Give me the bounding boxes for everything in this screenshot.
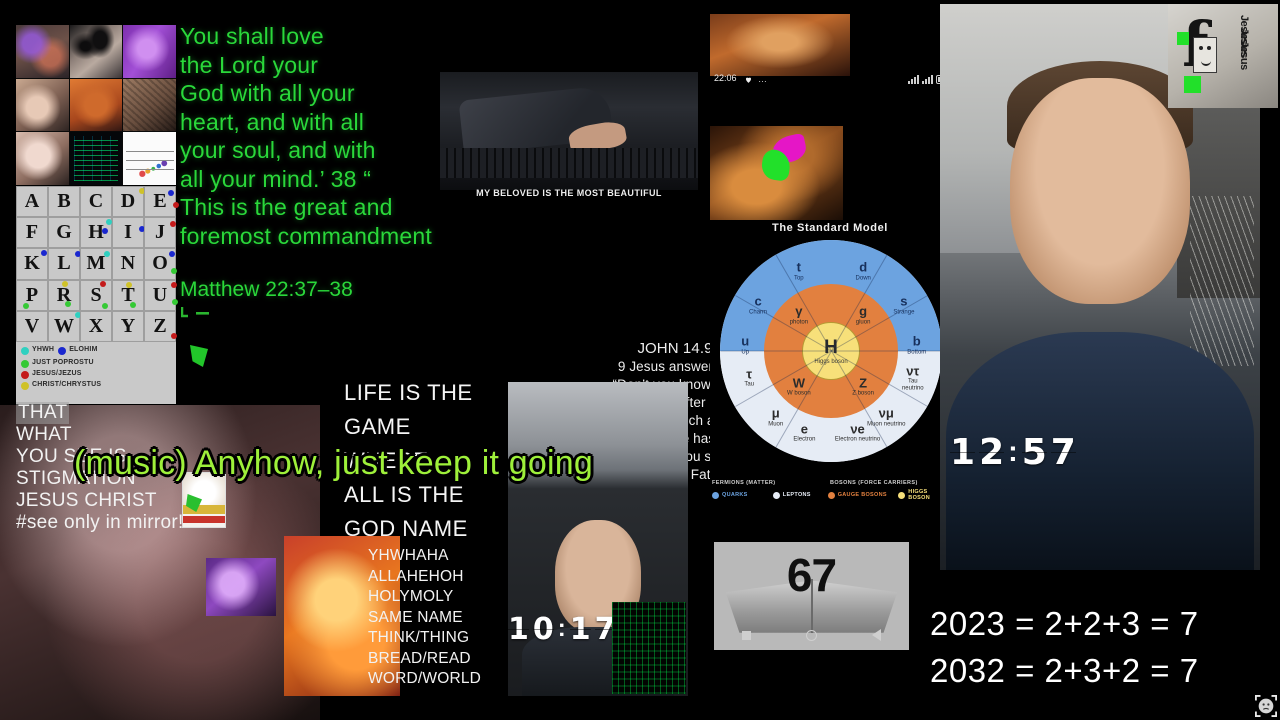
particle-symbol: g <box>856 305 871 319</box>
video-collage-stage: ABCDEFGHIJKLMNOPRSTUVWXYZ YHWHELOHIMJUST… <box>0 0 1280 720</box>
particle-name: Z boson <box>852 391 874 397</box>
sm-legend-label: GAUGE BOSONS <box>838 492 887 498</box>
particle-symbol: b <box>907 335 926 349</box>
verse-text-line: the Lord your <box>180 51 450 80</box>
letter-label: K <box>24 252 40 275</box>
letter-label: X <box>89 315 103 338</box>
legend-label: YHWH <box>32 346 54 353</box>
letter-marker-dot <box>106 219 112 225</box>
mosaic-tile-6 <box>123 79 176 132</box>
particle-symbol: νe <box>835 422 880 436</box>
legend-item: ELOHIM <box>58 346 97 355</box>
particle-symbol: s <box>893 295 914 309</box>
particle-name: Electron <box>793 437 815 443</box>
particle-name: Down <box>856 275 871 281</box>
sm-legend-item: LEPTONS <box>773 489 828 501</box>
letter-marker-dot <box>171 333 177 339</box>
watermark-face-card <box>1193 37 1217 73</box>
higgs-name: Higgs boson <box>814 359 847 365</box>
letter-marker-dot <box>104 251 110 257</box>
letter-cell-G[interactable]: G <box>48 217 80 248</box>
particle-name: Top <box>794 275 804 281</box>
letter-cell-E[interactable]: E <box>144 186 176 217</box>
matthew-verse-text: You shall lovethe Lord yourGod with all … <box>180 22 450 250</box>
particle-symbol: e <box>793 422 815 436</box>
letter-cell-H[interactable]: H <box>80 217 112 248</box>
sm-legend-dot <box>898 492 905 499</box>
yhwh-line: YHWHAHA <box>368 546 518 567</box>
stigmata-line: THAT <box>16 402 266 424</box>
standard-model-title: The Standard Model <box>710 222 950 234</box>
back-button[interactable] <box>872 629 881 641</box>
particle-symbol: γ <box>790 305 808 319</box>
letter-label: Y <box>121 315 135 338</box>
letter-label: N <box>121 252 135 275</box>
letter-marker-dot <box>41 250 47 256</box>
legend-color-dot <box>21 382 29 390</box>
lepton-tau: τTau <box>744 367 754 388</box>
letter-label: S <box>90 284 101 307</box>
letter-marker-dot <box>172 299 178 305</box>
legend-color-dot <box>21 371 29 379</box>
letter-label: L <box>57 252 70 275</box>
sm-legend-dot <box>828 492 835 499</box>
lepton-electron-neutrino: νeElectron neutrino <box>835 422 880 443</box>
letter-cell-B[interactable]: B <box>48 186 80 217</box>
particle-symbol: τ <box>744 367 754 381</box>
boson-z-boson: ZZ boson <box>852 376 874 397</box>
legend-row: CHRIST/CHRYSTUS <box>21 381 172 390</box>
quark-strange: sStrange <box>893 295 914 316</box>
letter-label: H <box>88 221 104 244</box>
legend-item: JUST POPROSTU <box>21 359 94 368</box>
mosaic-tile-4 <box>16 79 69 132</box>
mosaic-tile-7 <box>16 132 69 185</box>
android-navbar <box>714 626 909 644</box>
particle-name: Up <box>741 349 749 355</box>
boson-gluon: ggluon <box>856 305 871 326</box>
verse-text-line: foremost commandment <box>180 222 450 251</box>
wheel-spoke <box>721 351 832 352</box>
legend-item: JESUS/JEZUS <box>21 370 82 379</box>
letter-label: G <box>56 221 72 244</box>
letter-label: C <box>89 190 103 213</box>
sm-legend-dot <box>712 492 719 499</box>
particle-symbol: u <box>741 335 749 349</box>
letter-marker-dot <box>102 228 108 234</box>
legend-label: JESUS/JEZUS <box>32 370 82 377</box>
phone-video-clip <box>710 14 850 76</box>
mosaic-tile-8 <box>70 132 123 185</box>
quark-top: tTop <box>794 261 804 282</box>
numerology-row-line: 2032 = 2+3+2 = 7 <box>930 647 1270 694</box>
numerology-row-line: 2023 = 2+2+3 = 7 <box>930 600 1270 647</box>
letter-label: W <box>54 315 74 338</box>
mosaic-tile-2 <box>70 25 123 78</box>
letter-cell-S[interactable]: S <box>80 280 112 311</box>
watermark-word: Jesus <box>1238 41 1250 97</box>
yhwh-line: SAME NAME <box>368 608 518 629</box>
letter-marker-dot <box>169 251 175 257</box>
letter-marker-dot <box>126 282 132 288</box>
game-text-line: ALL IS THE <box>344 478 524 512</box>
legend-label: ELOHIM <box>69 346 97 353</box>
selfie-clock-colon: : <box>558 615 566 643</box>
standard-model-legend: FERMIONS (MATTER) BOSONS (FORCE CARRIERS… <box>712 480 950 501</box>
letter-cell-V[interactable]: V <box>16 311 48 342</box>
letter-cell-Y[interactable]: Y <box>112 311 144 342</box>
photo-mosaic <box>16 25 176 185</box>
letter-cell-X[interactable]: X <box>80 311 112 342</box>
numerology-math: 2023 = 2+2+3 = 72032 = 2+3+2 = 7 <box>930 600 1270 694</box>
lepton-electron: eElectron <box>793 422 815 443</box>
letter-label: U <box>153 284 167 307</box>
mosaic-tile-9 <box>123 132 176 185</box>
particle-symbol: t <box>794 261 804 275</box>
letter-cell-N[interactable]: N <box>112 248 144 279</box>
letter-label: J <box>155 221 165 244</box>
terminal-cursor-icon <box>181 306 221 318</box>
sm-legend-label: QUARKS <box>722 492 748 498</box>
lepton-muon: μMuon <box>768 406 783 427</box>
selfie-clock-digit: 1 <box>570 612 591 647</box>
stigmata-line: #see only in mirror! <box>16 512 266 534</box>
mosaic-tile-1 <box>16 25 69 78</box>
yhwh-line: WORD/WORLD <box>368 669 518 690</box>
channel-watermark-logo: f JesusJesusJesus <box>1168 4 1278 108</box>
particle-symbol: νμ <box>867 406 905 420</box>
flip-clock-selfie: 10:17 <box>508 612 588 646</box>
letter-marker-dot <box>171 268 177 274</box>
game-text-line: GAME <box>344 410 524 444</box>
letter-cell-W[interactable]: W <box>48 311 80 342</box>
letter-marker-dot <box>170 221 176 227</box>
particle-name: W boson <box>787 391 811 397</box>
particle-name: Bottom <box>907 349 926 355</box>
verse-text-line: God with all your <box>180 79 450 108</box>
letter-marker-dot <box>23 303 29 309</box>
sm-legend-item: QUARKS <box>712 489 773 501</box>
particle-name: gluon <box>856 320 871 326</box>
letter-label: F <box>26 221 38 244</box>
piano-video-clip <box>440 72 698 190</box>
particle-symbol: W <box>787 376 811 390</box>
legend-color-dot <box>58 347 66 355</box>
letter-marker-dot <box>100 281 106 287</box>
piano-clip-caption: MY BELOVED IS THE MOST BEAUTIFUL <box>440 188 698 198</box>
quark-down: dDown <box>856 261 871 282</box>
particle-symbol: d <box>856 261 871 275</box>
letter-marker-dot <box>173 202 179 208</box>
letter-cell-A[interactable]: A <box>16 186 48 217</box>
letter-label: A <box>25 190 39 213</box>
main-subtitle: (music) Anyhow, just keep it going <box>74 444 1214 483</box>
verse-text-line: your soul, and with <box>180 136 450 165</box>
verse-text-line: You shall love <box>180 22 450 51</box>
cellular-icon <box>922 74 933 84</box>
letter-cell-U[interactable]: U <box>144 280 176 311</box>
letter-label: M <box>87 252 106 275</box>
yhwh-line: HOLYMOLY <box>368 587 518 608</box>
legend-color-dot <box>21 360 29 368</box>
heart-icon <box>744 75 753 84</box>
yhwh-line: ALLAHEHOH <box>368 567 518 588</box>
recents-button[interactable] <box>742 631 751 640</box>
particle-symbol: c <box>749 295 767 309</box>
letter-cell-I[interactable]: I <box>112 217 144 248</box>
letter-cell-D[interactable]: D <box>112 186 144 217</box>
particle-name: Charm <box>749 310 767 316</box>
verse-text-line: heart, and with all <box>180 108 450 137</box>
letter-cell-Z[interactable]: Z <box>144 311 176 342</box>
yhwh-line: THINK/THING <box>368 628 518 649</box>
letter-marker-dot <box>168 190 174 196</box>
letter-label: E <box>153 190 166 213</box>
particle-name: Tau neutrino <box>898 379 927 392</box>
letter-marker-dot <box>171 282 177 288</box>
green-blob-icon <box>190 345 208 367</box>
legend-color-dot <box>21 347 29 355</box>
letter-label: V <box>25 315 39 338</box>
legend-label: CHRIST/CHRYSTUS <box>32 381 101 388</box>
letter-cell-J[interactable]: J <box>144 217 176 248</box>
particle-name: Electron neutrino <box>835 437 880 443</box>
letter-cell-L[interactable]: L <box>48 248 80 279</box>
verse-text-line: all your mind.’ 38 “ <box>180 165 450 194</box>
letter-cell-O[interactable]: O <box>144 248 176 279</box>
selfie-clock-digit: 0 <box>533 612 554 647</box>
legend-row: YHWHELOHIMJUST POPROSTU <box>21 346 172 368</box>
lepton-tau-neutrino: ντTau neutrino <box>898 364 927 391</box>
alphabet-grid: ABCDEFGHIJKLMNOPRSTUVWXYZ <box>16 186 176 342</box>
letter-cell-R[interactable]: R <box>48 280 80 311</box>
stigmata-line: WHAT <box>16 424 266 446</box>
letter-label: O <box>152 252 168 275</box>
quark-up: uUp <box>741 335 749 356</box>
boson-photon: γphoton <box>790 305 808 326</box>
wifi-icon <box>908 74 919 84</box>
letter-cell-C[interactable]: C <box>80 186 112 217</box>
legend-row: JESUS/JEZUS <box>21 370 172 379</box>
letter-label: D <box>121 190 135 213</box>
letter-cell-T[interactable]: T <box>112 280 144 311</box>
particle-name: Strange <box>893 310 914 316</box>
bible-number-overlay: 67 <box>714 548 909 602</box>
sm-legend-dot <box>773 492 780 499</box>
legend-label: JUST POPROSTU <box>32 359 94 366</box>
letter-marker-dot <box>130 302 136 308</box>
stigmata-line: JESUS CHRIST <box>16 490 266 512</box>
letter-cell-F[interactable]: F <box>16 217 48 248</box>
alphabet-legend: YHWHELOHIMJUST POPROSTUJESUS/JEZUSCHRIST… <box>16 342 176 404</box>
yhwh-line: BREAD/READ <box>368 649 518 670</box>
mosaic-tile-3 <box>123 25 176 78</box>
selfie-clock-digit: 1 <box>508 612 529 647</box>
home-button[interactable] <box>806 630 817 641</box>
mosaic-tile-5 <box>70 79 123 132</box>
letter-cell-M[interactable]: M <box>80 248 112 279</box>
game-text-line: LIFE IS THE <box>344 376 524 410</box>
particle-symbol: ντ <box>898 364 927 378</box>
legend-item: YHWH <box>21 346 54 355</box>
letter-label: I <box>124 221 132 244</box>
purple-video-thumbnail <box>206 558 276 616</box>
letter-label: B <box>57 190 70 213</box>
letter-cell-P[interactable]: P <box>16 280 48 311</box>
particle-name: photon <box>790 320 808 326</box>
particle-name: Tau <box>744 382 754 388</box>
more-dots-icon[interactable]: … <box>758 74 768 84</box>
sm-legend-label: LEPTONS <box>783 492 811 498</box>
legend-item: CHRIST/CHRYSTUS <box>21 381 101 390</box>
letter-label: Z <box>153 315 166 338</box>
particle-symbol: μ <box>768 406 783 420</box>
particle-symbol: Z <box>852 376 874 390</box>
boson-w-boson: WW boson <box>787 376 811 397</box>
verse-text-line: This is the great and <box>180 193 450 222</box>
letter-cell-K[interactable]: K <box>16 248 48 279</box>
quark-bottom: bBottom <box>907 335 926 356</box>
standard-model-wheel: H Higgs boson tTopdDowncCharmsStrangeuUp… <box>720 240 942 462</box>
quark-charm: cCharm <box>749 295 767 316</box>
phone-status-time: 22:06 <box>714 73 737 83</box>
matrix-rain-clip <box>612 602 686 694</box>
face-detect-icon <box>1255 695 1277 717</box>
yhwh-word-list: YHWHAHAALLAHEHOHHOLYMOLYSAME NAMETHINK/T… <box>368 546 518 690</box>
letter-marker-dot <box>102 303 108 309</box>
matthew-verse-reference: Matthew 22:37–38 <box>180 278 353 302</box>
particle-name: Muon <box>768 421 783 427</box>
sm-legend-item: GAUGE BOSONS <box>828 489 899 501</box>
